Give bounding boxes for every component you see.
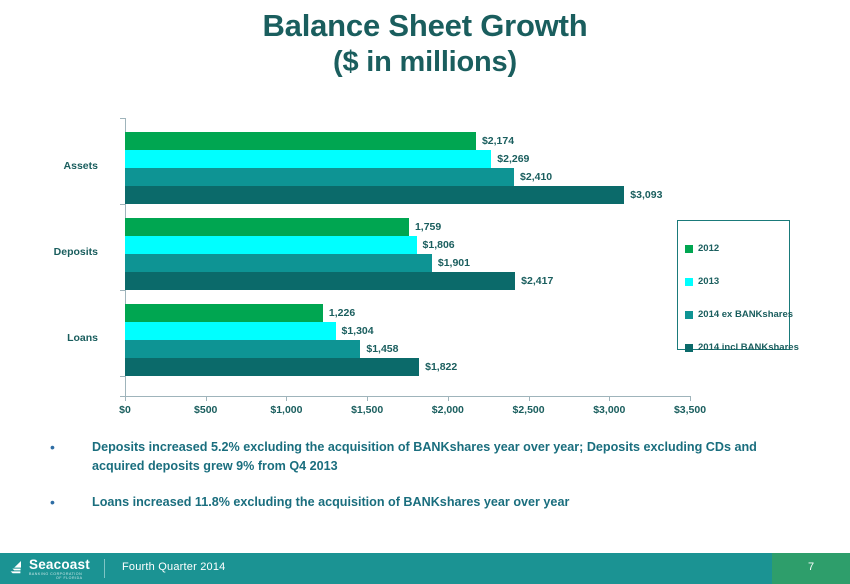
- bar-value-label: $2,417: [515, 275, 553, 287]
- slide: Balance Sheet Growth ($ in millions) Ass…: [0, 0, 850, 584]
- category-label: Loans: [67, 332, 98, 344]
- bar-row: $3,093: [125, 186, 690, 204]
- bar-group-loans: Loans1,226$1,304$1,458$1,822: [125, 304, 690, 376]
- y-axis-tick: [120, 290, 125, 291]
- bar-row: $1,822: [125, 358, 690, 376]
- x-axis-tick-label: $0: [119, 404, 131, 416]
- y-axis-tick: [120, 204, 125, 205]
- bar-2013: [125, 236, 417, 254]
- logo-wordmark: Seacoast: [29, 558, 90, 572]
- bar-2013: [125, 322, 336, 340]
- bar-2014-ex-bankshares: [125, 340, 360, 358]
- logo-subtext-line2: OF FLORIDA: [56, 576, 83, 581]
- bar-value-label: $2,269: [491, 153, 529, 165]
- bar-2014-ex-bankshares: [125, 254, 432, 272]
- x-axis-tick-label: $3,500: [674, 404, 706, 416]
- seacoast-logo: Seacoast BANKING CORPORATION OF FLORIDA: [10, 555, 95, 582]
- legend-label: 2014 ex BANKshares: [698, 309, 793, 320]
- bar-row: $2,269: [125, 150, 690, 168]
- page-number: 7: [772, 561, 850, 573]
- bar-value-label: 1,226: [323, 307, 355, 319]
- x-axis-tick: [206, 396, 207, 401]
- bar-value-label: $1,304: [336, 325, 374, 337]
- legend-label: 2014 incl BANKshares: [698, 342, 799, 353]
- x-axis-tick: [690, 396, 691, 401]
- legend-swatch-icon: [685, 245, 693, 253]
- x-axis-tick-label: $2,500: [513, 404, 545, 416]
- y-axis-tick: [120, 118, 125, 119]
- bar-2014-incl-bankshares: [125, 358, 419, 376]
- footer-subtitle: Fourth Quarter 2014: [122, 561, 225, 573]
- title-line-sub: ($ in millions): [0, 44, 850, 80]
- category-label: Deposits: [54, 246, 98, 258]
- legend-item[interactable]: 2014 incl BANKshares: [685, 331, 789, 364]
- bar-chart: Assets$2,174$2,269$2,410$3,093Deposits1,…: [60, 118, 780, 418]
- bullet-item: •Loans increased 11.8% excluding the acq…: [44, 493, 804, 512]
- legend-label: 2012: [698, 243, 719, 254]
- bar-2012: [125, 304, 323, 322]
- title-line-main: Balance Sheet Growth: [0, 8, 850, 44]
- x-axis-tick: [367, 396, 368, 401]
- y-axis-tick: [120, 376, 125, 377]
- legend-item[interactable]: 2012: [685, 232, 789, 265]
- legend-item[interactable]: 2014 ex BANKshares: [685, 298, 789, 331]
- sailboat-icon: [10, 561, 26, 576]
- bar-value-label: $1,901: [432, 257, 470, 269]
- page-title: Balance Sheet Growth ($ in millions): [0, 8, 850, 80]
- footer-divider: [104, 559, 105, 578]
- bar-2013: [125, 150, 491, 168]
- bar-2014-incl-bankshares: [125, 272, 515, 290]
- bar-value-label: $1,822: [419, 361, 457, 373]
- x-axis-tick-label: $3,000: [593, 404, 625, 416]
- x-axis-tick-label: $1,000: [270, 404, 302, 416]
- chart-legend: 201220132014 ex BANKshares2014 incl BANK…: [677, 220, 790, 350]
- y-axis-tick: [120, 396, 125, 397]
- bar-group-deposits: Deposits1,759$1,806$1,901$2,417: [125, 218, 690, 290]
- bar-row: 1,226: [125, 304, 690, 322]
- bar-2012: [125, 132, 476, 150]
- bullet-text: Deposits increased 5.2% excluding the ac…: [92, 438, 764, 476]
- bar-row: $2,174: [125, 132, 690, 150]
- bar-row: $1,806: [125, 236, 690, 254]
- bar-value-label: $1,458: [360, 343, 398, 355]
- bullet-text: Loans increased 11.8% excluding the acqu…: [92, 493, 569, 512]
- x-axis-tick-label: $1,500: [351, 404, 383, 416]
- legend-swatch-icon: [685, 278, 693, 286]
- bullet-list: •Deposits increased 5.2% excluding the a…: [44, 438, 804, 529]
- bar-value-label: 1,759: [409, 221, 441, 233]
- x-axis-tick: [609, 396, 610, 401]
- bar-value-label: $3,093: [624, 189, 662, 201]
- bar-value-label: $1,806: [417, 239, 455, 251]
- x-axis-tick-label: $2,000: [432, 404, 464, 416]
- legend-label: 2013: [698, 276, 719, 287]
- bar-row: $1,304: [125, 322, 690, 340]
- bar-row: $1,458: [125, 340, 690, 358]
- bar-value-label: $2,174: [476, 135, 514, 147]
- bar-2014-ex-bankshares: [125, 168, 514, 186]
- bar-value-label: $2,410: [514, 171, 552, 183]
- bullet-marker-icon: •: [44, 493, 92, 512]
- bar-group-assets: Assets$2,174$2,269$2,410$3,093: [125, 132, 690, 204]
- page-number-block: 7: [772, 553, 850, 584]
- bar-row: $2,410: [125, 168, 690, 186]
- x-axis-tick: [448, 396, 449, 401]
- footer-bar: Seacoast BANKING CORPORATION OF FLORIDA …: [0, 553, 850, 584]
- legend-swatch-icon: [685, 344, 693, 352]
- x-axis-tick: [286, 396, 287, 401]
- x-axis-tick: [125, 396, 126, 401]
- x-axis-tick-label: $500: [194, 404, 217, 416]
- legend-item[interactable]: 2013: [685, 265, 789, 298]
- category-label: Assets: [64, 160, 98, 172]
- x-axis-tick: [529, 396, 530, 401]
- bar-2012: [125, 218, 409, 236]
- bullet-item: •Deposits increased 5.2% excluding the a…: [44, 438, 804, 476]
- x-axis-ticks: $0$500$1,000$1,500$2,000$2,500$3,000$3,5…: [125, 396, 690, 422]
- bar-2014-incl-bankshares: [125, 186, 624, 204]
- bullet-marker-icon: •: [44, 438, 92, 457]
- bar-row: 1,759: [125, 218, 690, 236]
- bar-row: $2,417: [125, 272, 690, 290]
- legend-swatch-icon: [685, 311, 693, 319]
- bar-row: $1,901: [125, 254, 690, 272]
